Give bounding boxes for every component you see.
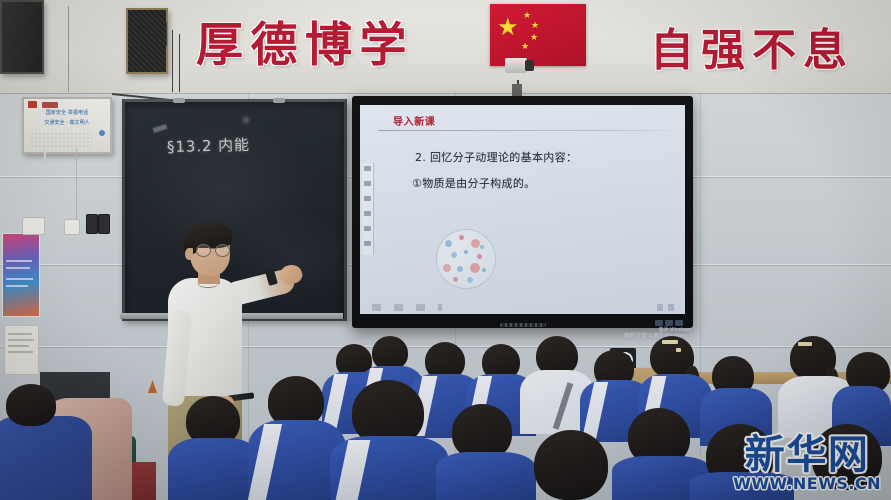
student-uniform — [0, 416, 92, 500]
speaker-grill-icon — [30, 132, 92, 148]
slide-title-rule — [378, 130, 678, 131]
molecule-diagram — [436, 229, 496, 289]
wall-socket[interactable] — [22, 217, 45, 235]
wall-banner-right: 自强不息 — [650, 14, 854, 78]
speaker-cable — [166, 22, 167, 46]
slide-status-bar — [372, 304, 442, 311]
necklace — [197, 278, 219, 288]
student-head — [6, 384, 56, 426]
watermark-url: WWW.NEWS.CN — [733, 476, 881, 492]
brand-logo-icon — [655, 320, 663, 326]
brand-logo-icon — [665, 320, 673, 326]
undo-tool-icon[interactable] — [364, 226, 371, 231]
speaker-cable — [68, 6, 69, 92]
flag-star-small: ★ — [523, 11, 531, 20]
speaker-cable — [172, 30, 173, 92]
security-camera-icon — [505, 58, 527, 73]
wall-socket[interactable] — [64, 219, 80, 235]
more-tool-icon[interactable] — [364, 241, 371, 246]
brand-logo-icon — [675, 320, 683, 326]
pa-panel-logos — [24, 99, 110, 108]
flag-star-small: ★ — [531, 21, 539, 30]
tv-ir-sensor-icon — [500, 323, 546, 327]
flag-star-small: ★ — [521, 42, 529, 51]
eyeglasses-icon — [196, 244, 230, 255]
news-agency-watermark: 新华网 WWW.NEWS.CN — [733, 435, 881, 492]
chalk-smudge — [153, 124, 168, 133]
wall-speaker-left — [0, 0, 44, 74]
pa-panel-cable — [76, 148, 77, 224]
smartboard-screen[interactable]: 导入新课 2. 回忆分子动理论的基本内容： ①物质是由分子构成的。 — [360, 105, 685, 314]
blackboard-clip — [273, 98, 285, 103]
wall-speaker-right — [126, 8, 168, 74]
speaker-cable — [179, 34, 180, 92]
wall-switch[interactable] — [98, 214, 110, 234]
pa-panel-cable — [44, 148, 46, 226]
blackboard-chalk-text: §13.2 内能 — [167, 134, 250, 157]
wall-switch[interactable] — [86, 214, 98, 234]
wall-banner-left: 厚德博学 — [196, 6, 414, 75]
pa-alarm-panel[interactable]: 国家安全·举报电话 交通安全 · 做文明人 — [22, 97, 112, 154]
eraser-tool-icon[interactable] — [364, 181, 371, 186]
pen-tool-icon[interactable] — [364, 166, 371, 171]
pa-panel-line2: 交通安全 · 做文明人 — [24, 118, 110, 128]
flag-star-large: ★ — [497, 16, 519, 40]
smartboard-tool-rail[interactable] — [362, 163, 374, 255]
teacher-ear — [185, 248, 193, 260]
wall-poster — [2, 233, 40, 317]
wall-notice-sheet — [4, 325, 39, 375]
slide-body-line-1: 2. 回忆分子动理论的基本内容： — [415, 149, 577, 165]
watermark-chinese: 新华网 — [733, 435, 881, 475]
classroom-photo: 厚德博学 自强不息 ★ ★ ★ ★ ★ 国家安全·举报电话 交通安全 · 做文明… — [0, 0, 891, 500]
pa-panel-line1: 国家安全·举报电话 — [24, 108, 110, 118]
interactive-smartboard[interactable]: 导入新课 2. 回忆分子动理论的基本内容： ①物质是由分子构成的。 — [352, 96, 693, 328]
select-tool-icon[interactable] — [364, 211, 371, 216]
cross-logo-icon — [28, 101, 37, 108]
flag-star-small: ★ — [530, 33, 538, 42]
slide-title: 导入新课 — [393, 113, 435, 128]
tv-brand-logos — [655, 320, 683, 326]
chalk-smudge — [241, 114, 251, 126]
brand-logo-icon — [42, 102, 58, 108]
shape-tool-icon[interactable] — [364, 196, 371, 201]
china-flag: ★ ★ ★ ★ ★ — [490, 4, 586, 66]
status-led-icon — [99, 130, 105, 136]
blackboard-clip — [173, 98, 185, 103]
slide-body-line-2: ①物质是由分子构成的。 — [412, 175, 536, 191]
slide-status-bar-right — [657, 304, 679, 311]
